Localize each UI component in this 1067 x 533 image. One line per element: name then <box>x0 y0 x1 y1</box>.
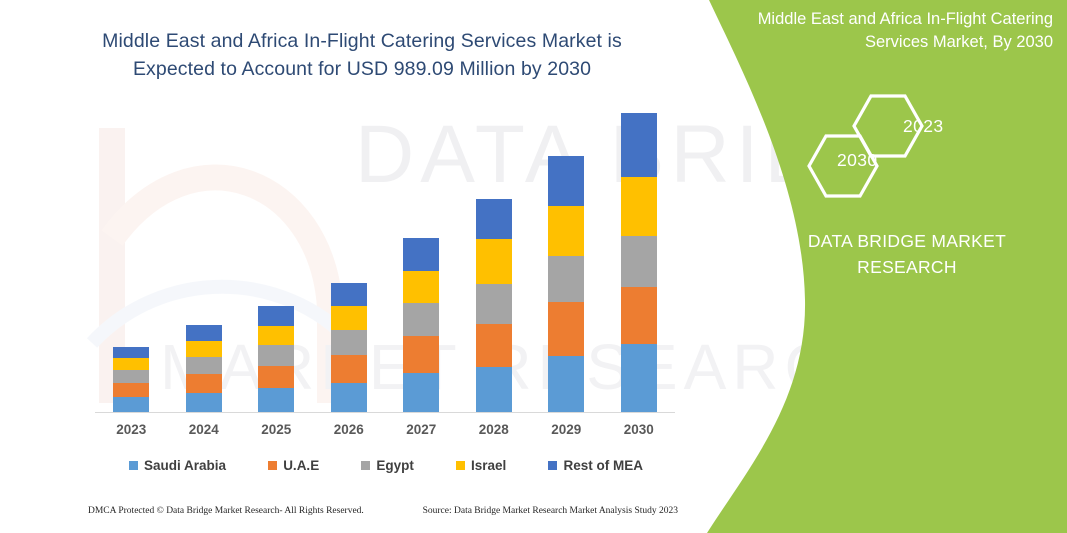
bar-segment <box>403 303 439 336</box>
hexagon-2030-label: 2030 <box>837 150 878 171</box>
x-tick-2027: 2027 <box>385 422 458 444</box>
brand-panel-content: Middle East and Africa In-Flight Caterin… <box>687 0 1067 533</box>
legend-swatch-icon <box>129 461 138 470</box>
bar-segment <box>548 256 584 302</box>
bar-segment <box>548 206 584 256</box>
legend-swatch-icon <box>548 461 557 470</box>
legend-item[interactable]: Rest of MEA <box>548 458 643 473</box>
legend-swatch-icon <box>361 461 370 470</box>
bar-column-2028 <box>458 100 531 412</box>
legend-label: Saudi Arabia <box>144 458 226 473</box>
x-tick-2028: 2028 <box>458 422 531 444</box>
bar-segment <box>621 177 657 236</box>
legend-item[interactable]: Israel <box>456 458 506 473</box>
stacked-bar <box>476 199 512 412</box>
bar-segment <box>258 306 294 325</box>
x-tick-2030: 2030 <box>603 422 676 444</box>
bar-segment <box>113 358 149 370</box>
bar-segment <box>403 336 439 373</box>
bar-segment <box>476 239 512 283</box>
bar-segment <box>403 271 439 303</box>
page-title: Middle East and Africa In-Flight Caterin… <box>62 28 662 83</box>
chart-bars <box>95 100 675 412</box>
brand-name-line-2: RESEARCH <box>792 254 1022 280</box>
x-axis-line <box>95 412 675 413</box>
brand-name: DATA BRIDGE MARKET RESEARCH <box>792 228 1022 281</box>
bar-segment <box>186 393 222 412</box>
footer-copyright: DMCA Protected © Data Bridge Market Rese… <box>88 506 364 516</box>
bar-segment <box>258 388 294 412</box>
bar-column-2025 <box>240 100 313 412</box>
bar-segment <box>258 326 294 345</box>
bar-segment <box>548 156 584 206</box>
bar-segment <box>331 330 367 355</box>
bar-segment <box>403 373 439 412</box>
stacked-bar <box>258 306 294 412</box>
chart-legend: Saudi ArabiaU.A.EEgyptIsraelRest of MEA <box>95 452 675 478</box>
brand-name-line-1: DATA BRIDGE MARKET <box>792 228 1022 254</box>
bar-segment <box>331 306 367 330</box>
bar-segment <box>548 302 584 356</box>
hexagon-outline-icons <box>805 92 965 207</box>
bar-segment <box>331 355 367 383</box>
legend-item[interactable]: Saudi Arabia <box>129 458 226 473</box>
bar-segment <box>113 347 149 358</box>
legend-item[interactable]: Egypt <box>361 458 414 473</box>
bar-segment <box>258 345 294 366</box>
bar-segment <box>186 374 222 392</box>
legend-swatch-icon <box>456 461 465 470</box>
bar-segment <box>186 325 222 341</box>
bar-segment <box>403 238 439 270</box>
bar-column-2027 <box>385 100 458 412</box>
bar-segment <box>621 113 657 177</box>
x-axis-labels: 20232024202520262027202820292030 <box>95 422 675 444</box>
x-tick-2029: 2029 <box>530 422 603 444</box>
stacked-bar <box>186 325 222 412</box>
bar-segment <box>331 383 367 412</box>
chart-plot-area <box>95 100 675 413</box>
bar-segment <box>621 236 657 287</box>
x-tick-2026: 2026 <box>313 422 386 444</box>
bar-segment <box>476 367 512 412</box>
stacked-bar <box>548 156 584 412</box>
bar-segment <box>258 366 294 389</box>
bar-segment <box>476 199 512 239</box>
bar-column-2026 <box>313 100 386 412</box>
stacked-bar <box>113 347 149 412</box>
brand-panel-title: Middle East and Africa In-Flight Caterin… <box>723 8 1053 55</box>
bar-segment <box>331 283 367 307</box>
legend-label: Egypt <box>376 458 414 473</box>
stacked-bar <box>621 113 657 412</box>
legend-label: U.A.E <box>283 458 319 473</box>
footer-source: Source: Data Bridge Market Research Mark… <box>423 506 678 516</box>
bar-segment <box>548 356 584 412</box>
bar-column-2030 <box>603 100 676 412</box>
bar-segment <box>113 370 149 383</box>
x-tick-2025: 2025 <box>240 422 313 444</box>
x-tick-2023: 2023 <box>95 422 168 444</box>
bar-segment <box>476 284 512 324</box>
x-tick-2024: 2024 <box>168 422 241 444</box>
stacked-bar <box>331 283 367 412</box>
bar-column-2029 <box>530 100 603 412</box>
bar-segment <box>476 324 512 367</box>
bar-segment <box>113 397 149 412</box>
legend-item[interactable]: U.A.E <box>268 458 319 473</box>
legend-swatch-icon <box>268 461 277 470</box>
hexagon-badges: 2030 2023 <box>805 92 965 207</box>
footer: DMCA Protected © Data Bridge Market Rese… <box>88 506 678 516</box>
brand-panel: Middle East and Africa In-Flight Caterin… <box>687 0 1067 533</box>
bar-segment <box>113 383 149 397</box>
bar-segment <box>621 287 657 344</box>
bar-segment <box>186 357 222 374</box>
stacked-bar <box>403 238 439 412</box>
bar-segment <box>186 341 222 357</box>
bar-column-2024 <box>168 100 241 412</box>
bar-segment <box>621 344 657 412</box>
bar-column-2023 <box>95 100 168 412</box>
legend-label: Israel <box>471 458 506 473</box>
stacked-bar-chart <box>95 100 675 413</box>
hexagon-2023-label: 2023 <box>903 116 944 137</box>
legend-label: Rest of MEA <box>563 458 643 473</box>
